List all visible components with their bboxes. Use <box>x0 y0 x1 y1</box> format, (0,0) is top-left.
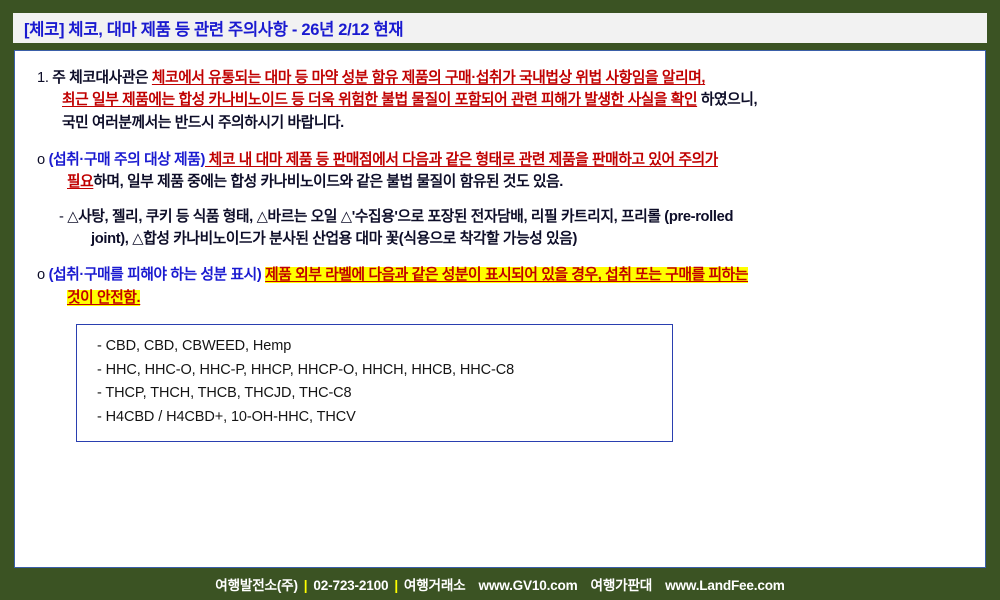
chemical-line: - THCP, THCH, THCB, THCJD, THC-C8 <box>97 382 672 405</box>
chemical-line: - H4CBD / H4CBD+, 10-OH-HHC, THCV <box>97 406 672 429</box>
item2-bullet-marker: o <box>37 152 45 168</box>
item2-line2-tail: 하며, 일부 제품 중에는 합성 카나비노이드와 같은 불법 물질이 함유된 것… <box>93 174 563 190</box>
footer-contact-line: 여행발전소(주)|02-723-2100|여행거래소www.GV10.com여행… <box>215 574 784 594</box>
item4-label: (섭취·구매를 피해야 하는 성분 표시) <box>49 267 262 283</box>
item2-emphasis: 체코 내 대마 제품 등 판매점에서 다음과 같은 형태로 관련 제품을 판매하… <box>205 152 718 168</box>
footer-separator-2: | <box>388 578 404 593</box>
footer-separator-1: | <box>298 578 314 593</box>
notice-item-3: - △사탕, 젤리, 쿠키 등 식품 형태, △바르는 오일 △'수집용'으로 … <box>29 206 971 251</box>
item1-line3: 국민 여러분께서는 반드시 주의하시기 바랍니다. <box>48 112 971 134</box>
notice-item-4: o (섭취·구매를 피해야 하는 성분 표시) 제품 외부 라벨에 다음과 같은… <box>29 264 971 309</box>
item4-line2: 것이 안전함. <box>52 287 971 309</box>
item2-line2: 필요하며, 일부 제품 중에는 합성 카나비노이드와 같은 불법 물질이 함유된… <box>52 171 971 193</box>
footer-site-2[interactable]: www.LandFee.com <box>665 578 785 593</box>
item4-highlight-line1: 제품 외부 라벨에 다음과 같은 성분이 표시되어 있을 경우, 섭취 또는 구… <box>265 267 748 283</box>
chemical-list-box: - CBD, CBD, CBWEED, Hemp - HHC, HHC-O, H… <box>76 324 673 442</box>
chemical-line: - HHC, HHC-O, HHC-P, HHCP, HHCP-O, HHCH,… <box>97 359 672 382</box>
item1-paragraph: 1. 주 체코대사관은 체코에서 유통되는 대마 등 마약 성분 함유 제품의 … <box>37 67 971 134</box>
footer-site-1[interactable]: www.GV10.com <box>478 578 577 593</box>
footer-company: 여행발전소(주) <box>215 578 298 593</box>
item1-line2: 최근 일부 제품에는 합성 카나비노이드 등 더욱 위험한 불법 물질이 포함되… <box>48 89 971 111</box>
notice-item-2: o (섭취·구매 주의 대상 제품) 체코 내 대마 제품 등 판매점에서 다음… <box>29 149 971 194</box>
item2-paragraph: o (섭취·구매 주의 대상 제품) 체코 내 대마 제품 등 판매점에서 다음… <box>37 149 971 194</box>
footer-bar: 여행발전소(주)|02-723-2100|여행거래소www.GV10.com여행… <box>0 568 1000 600</box>
title-bar: [체코] 체코, 대마 제품 등 관련 주의사항 - 26년 2/12 현재 <box>13 13 987 43</box>
item1-line2-tail: 하였으니, <box>697 92 757 108</box>
item1-text-lead: 주 체코대사관은 <box>52 70 152 86</box>
footer-phone[interactable]: 02-723-2100 <box>313 578 388 593</box>
spacer-1 <box>29 135 971 149</box>
footer-brand-2: 여행가판대 <box>591 578 653 593</box>
content-panel: 1. 주 체코대사관은 체코에서 유통되는 대마 등 마약 성분 함유 제품의 … <box>14 50 986 568</box>
spacer-4 <box>29 310 971 324</box>
spacer-2 <box>29 195 971 206</box>
item3-line2: joint), △합성 카나비노이드가 분사된 산업용 대마 꽃(식용으로 착각… <box>74 228 971 250</box>
notice-item-1: 1. 주 체코대사관은 체코에서 유통되는 대마 등 마약 성분 함유 제품의 … <box>29 67 971 134</box>
item4-paragraph: o (섭취·구매를 피해야 하는 성분 표시) 제품 외부 라벨에 다음과 같은… <box>37 264 971 309</box>
item3-line1: △사탕, 젤리, 쿠키 등 식품 형태, △바르는 오일 △'수집용'으로 포장… <box>67 209 733 225</box>
item1-emphasis-line1: 체코에서 유통되는 대마 등 마약 성분 함유 제품의 구매·섭취가 국내법상 … <box>152 70 705 86</box>
item2-label: (섭취·구매 주의 대상 제품) <box>49 152 205 168</box>
item4-bullet-marker: o <box>37 267 45 283</box>
spacer-3 <box>29 251 971 264</box>
item2-emphasis-cont: 필요 <box>67 174 93 190</box>
item1-emphasis-line2: 최근 일부 제품에는 합성 카나비노이드 등 더욱 위험한 불법 물질이 포함되… <box>62 92 697 108</box>
chemical-line: - CBD, CBD, CBWEED, Hemp <box>97 335 672 358</box>
item4-highlight-line2: 것이 안전함. <box>67 290 140 306</box>
notice-page: [체코] 체코, 대마 제품 등 관련 주의사항 - 26년 2/12 현재 1… <box>0 0 1000 600</box>
item3-paragraph: - △사탕, 젤리, 쿠키 등 식품 형태, △바르는 오일 △'수집용'으로 … <box>59 206 971 251</box>
footer-brand-1: 여행거래소 <box>404 578 466 593</box>
item1-marker: 1. <box>37 70 49 86</box>
page-title: [체코] 체코, 대마 제품 등 관련 주의사항 - 26년 2/12 현재 <box>13 16 403 40</box>
item3-dash-marker: - <box>59 209 64 225</box>
